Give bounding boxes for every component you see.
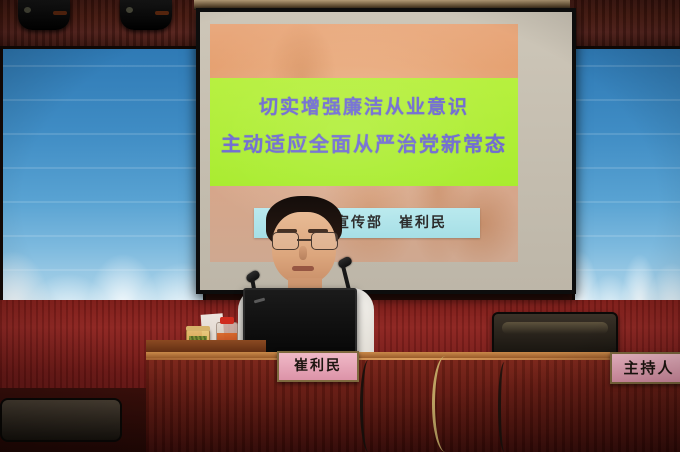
conference-hall-photo: 切实增强廉洁从业意识 主动适应全面从严治党新常态 省纪委宣传部 崔利民 [0, 0, 680, 452]
slide-title-line-2: 主动适应全面从严治党新常态 [210, 128, 518, 157]
ceiling-spotlight-1 [18, 0, 70, 30]
wall-mural-right [572, 46, 680, 342]
nameplate-host: 主持人 [610, 352, 680, 384]
nose [299, 246, 307, 260]
ceiling-spotlight-2 [120, 0, 172, 30]
leather-chair-foreground [0, 398, 122, 442]
nameplate-host-text: 主持人 [612, 354, 680, 382]
power-cable [432, 356, 459, 452]
bottle-cap [220, 317, 234, 324]
slide-title-band: 切实增强廉洁从业意识 主动适应全面从严治党新常态 [210, 78, 518, 186]
nameplate-speaker: 崔利民 [277, 351, 359, 382]
wall-mural-left [0, 46, 206, 342]
signal-cable [360, 360, 377, 452]
mouth [292, 266, 314, 271]
laptop-logo [254, 298, 265, 304]
nameplate-speaker-text: 崔利民 [279, 353, 357, 380]
signal-cable-2 [498, 362, 511, 452]
slide-title-line-1: 切实增强廉洁从业意识 [210, 92, 518, 119]
desk-front-panel [146, 360, 680, 452]
mural-horizontal-lines [3, 49, 203, 339]
mural-horizontal-lines [575, 49, 680, 339]
